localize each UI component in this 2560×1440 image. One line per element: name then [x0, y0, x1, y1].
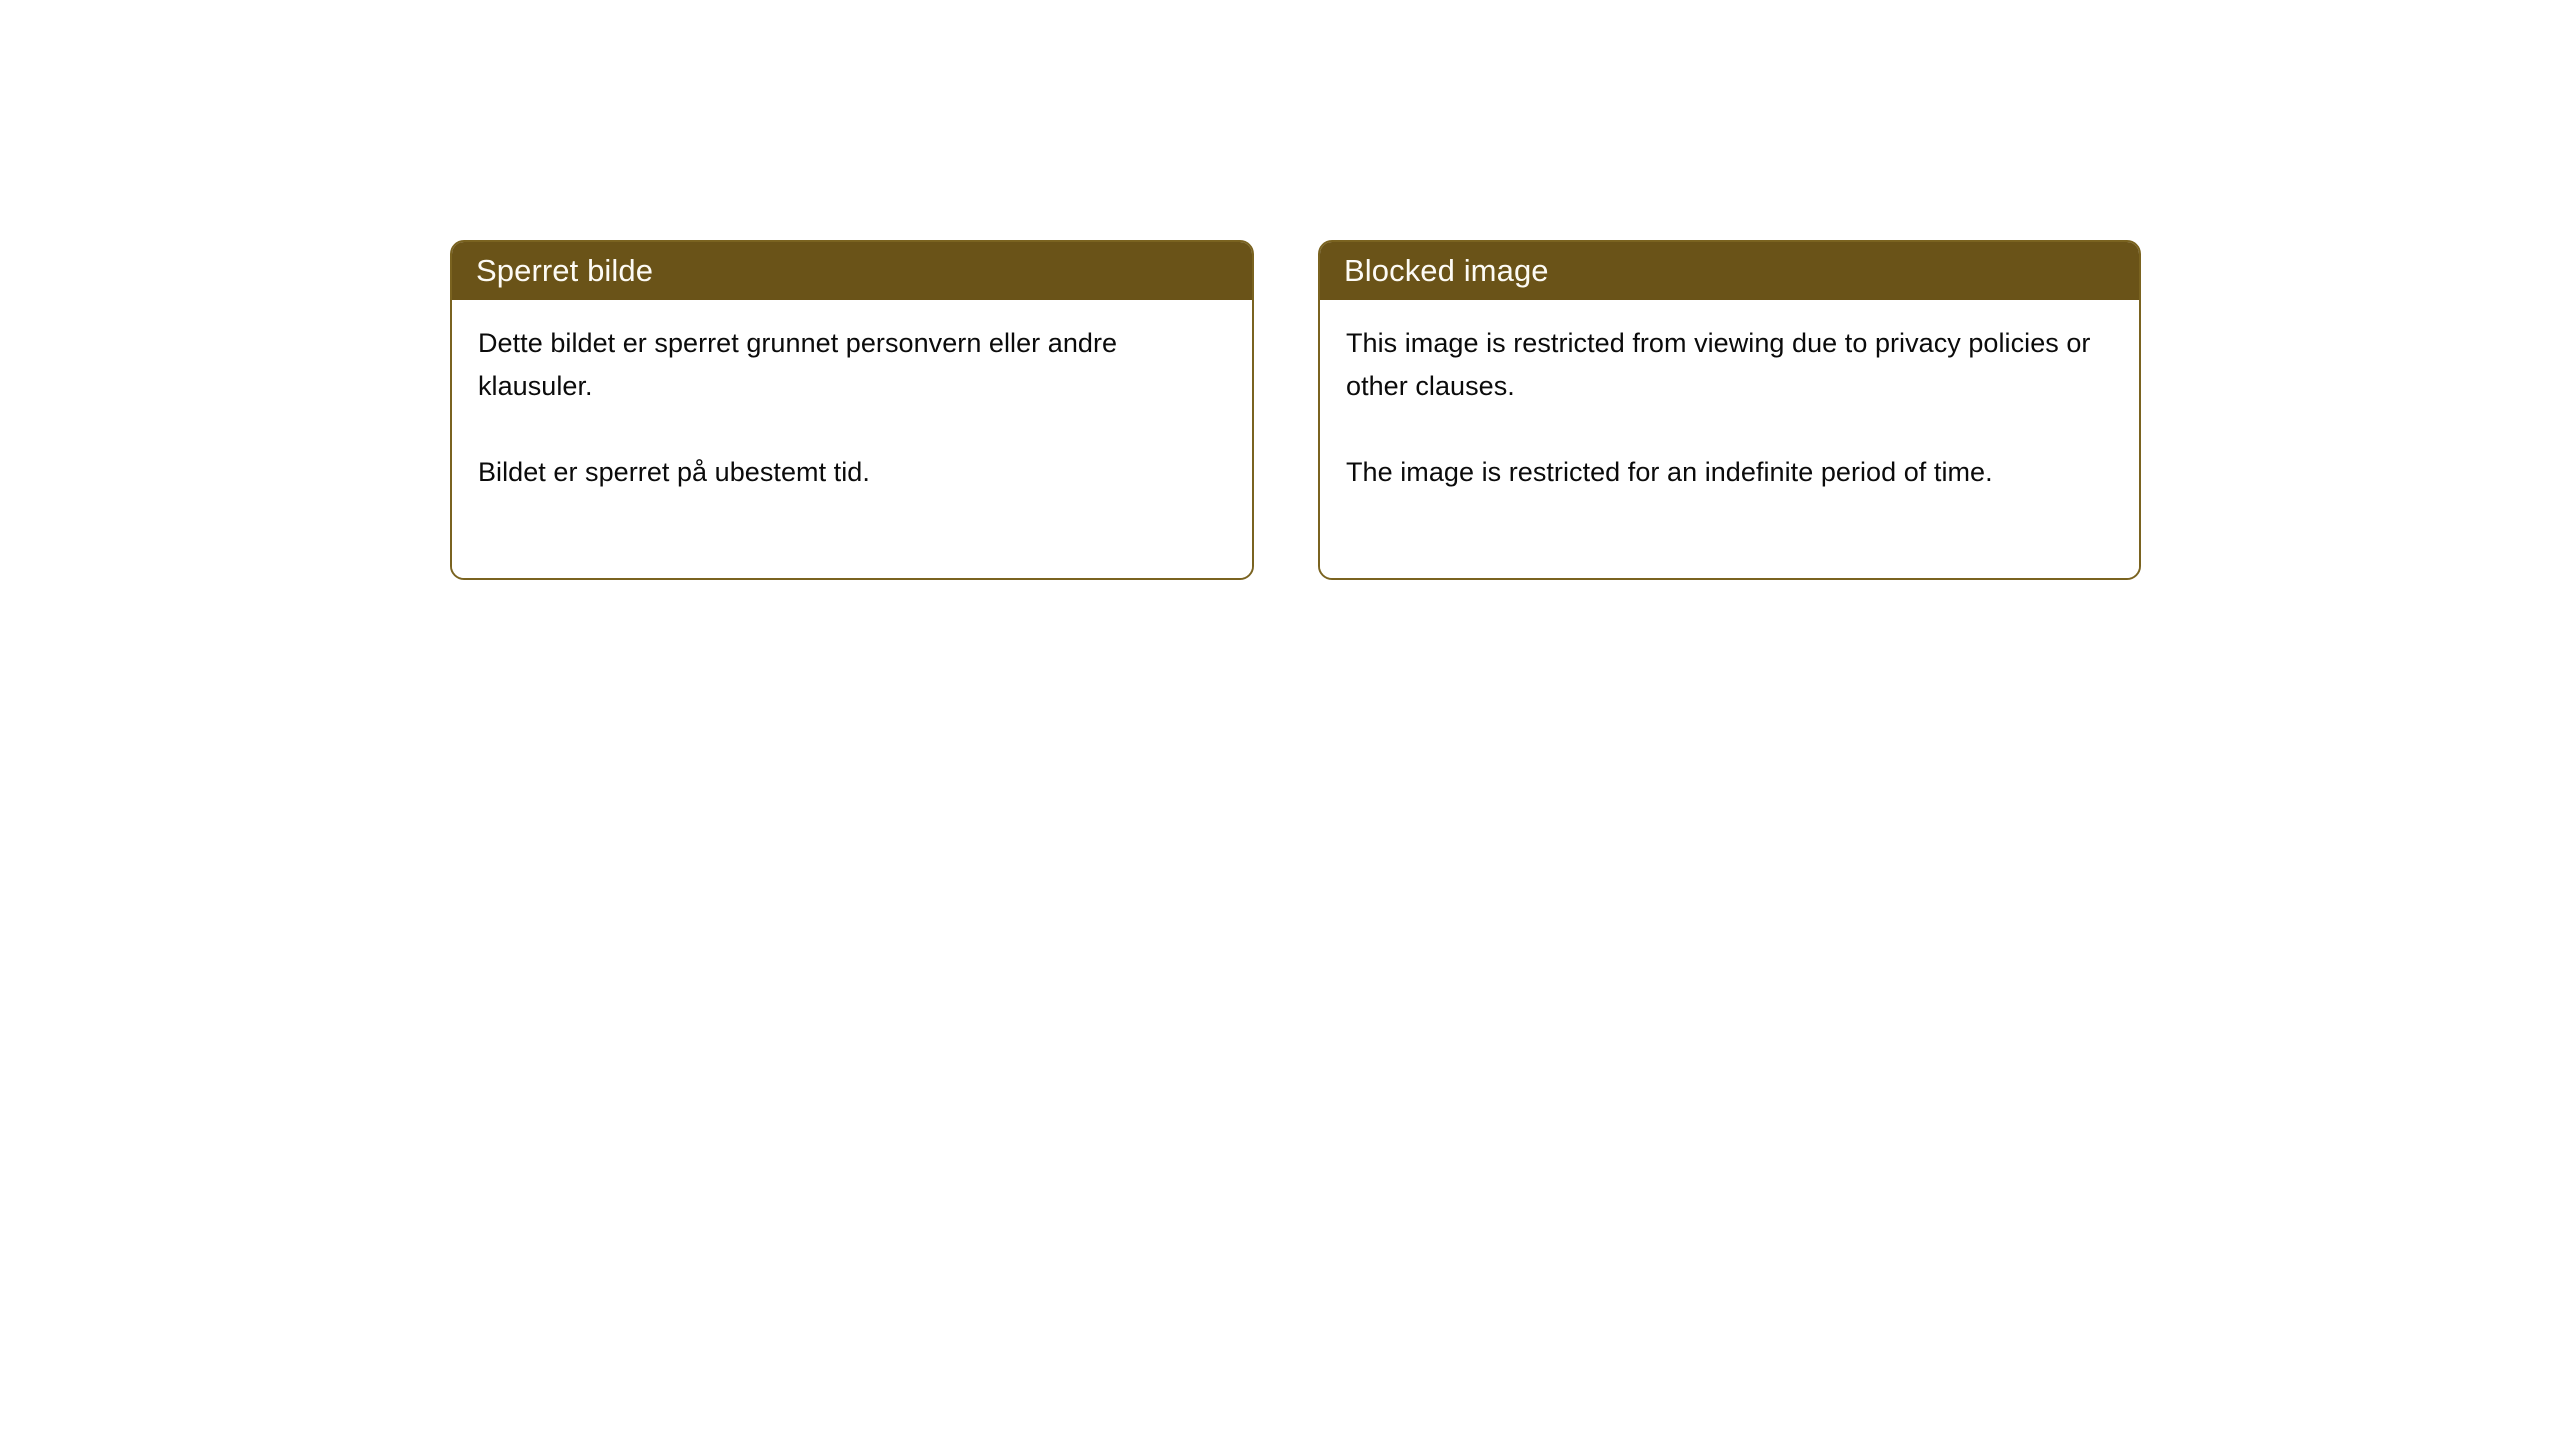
- card-header-norwegian: Sperret bilde: [452, 242, 1252, 300]
- blocked-image-notice-card-english: Blocked image This image is restricted f…: [1318, 240, 2141, 580]
- card-body-norwegian: Dette bildet er sperret grunnet personve…: [452, 300, 1252, 578]
- card-body-english: This image is restricted from viewing du…: [1320, 300, 2139, 578]
- notice-paragraph-primary-english: This image is restricted from viewing du…: [1346, 322, 2115, 408]
- paragraph-spacer: [1346, 408, 2115, 451]
- page-canvas: Sperret bilde Dette bildet er sperret gr…: [0, 0, 2560, 1440]
- card-title-norwegian: Sperret bilde: [476, 253, 653, 289]
- paragraph-spacer: [478, 408, 1228, 451]
- notice-paragraph-secondary-norwegian: Bildet er sperret på ubestemt tid.: [478, 451, 1228, 494]
- notice-paragraph-secondary-english: The image is restricted for an indefinit…: [1346, 451, 2115, 494]
- card-header-english: Blocked image: [1320, 242, 2139, 300]
- notice-paragraph-primary-norwegian: Dette bildet er sperret grunnet personve…: [478, 322, 1228, 408]
- blocked-image-notice-card-norwegian: Sperret bilde Dette bildet er sperret gr…: [450, 240, 1254, 580]
- card-title-english: Blocked image: [1344, 253, 1549, 289]
